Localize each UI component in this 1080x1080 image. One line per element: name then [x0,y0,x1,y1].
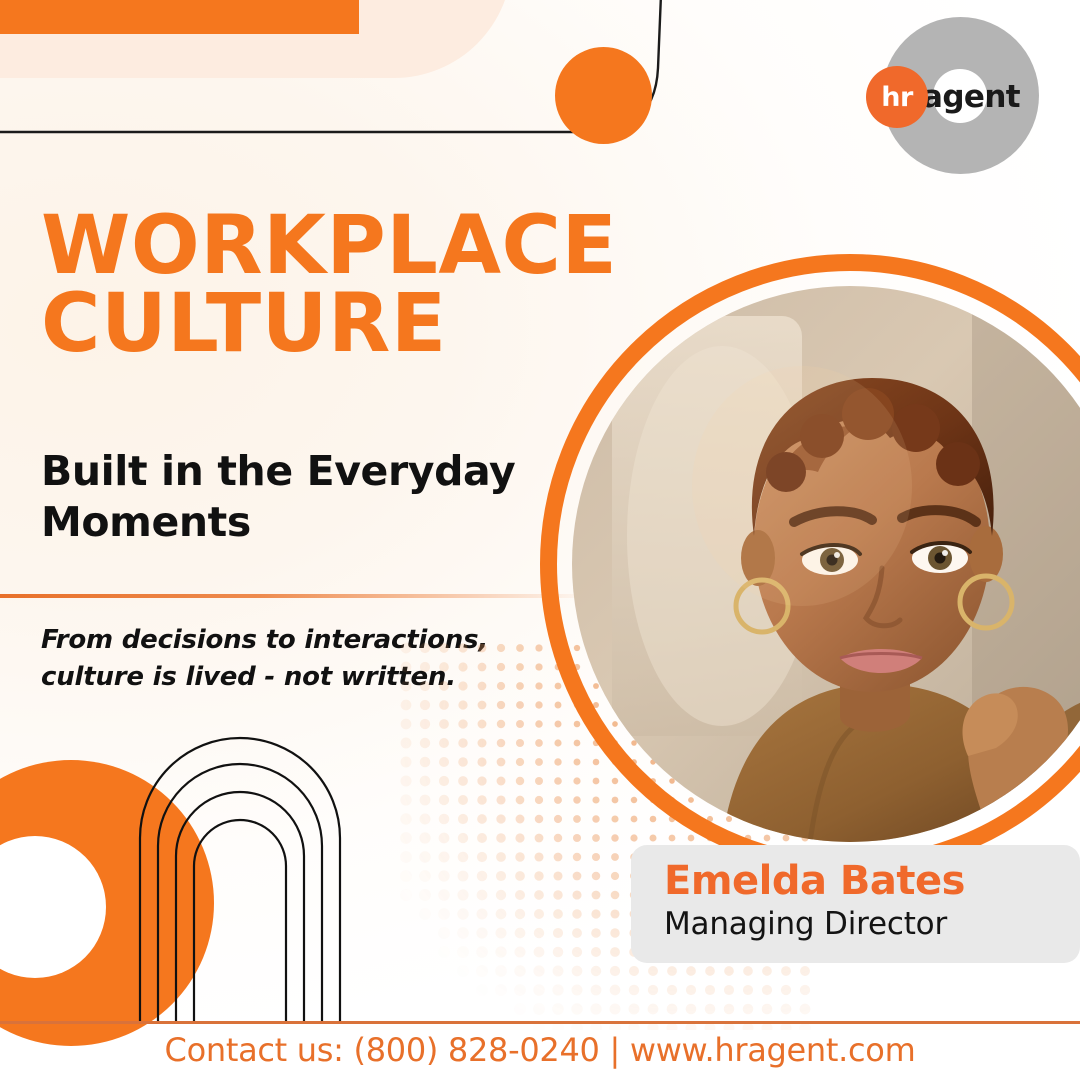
portrait-photo [572,286,1080,842]
orange-bar-shape [0,0,359,34]
poster-canvas: agent hr WORKPLACE CULTURE Built in the … [0,0,1080,1080]
footer-contact: Contact us: (800) 828-0240 | www.hragent… [0,1031,1080,1069]
logo-hr-badge: hr [866,66,928,128]
gradient-divider [0,594,620,598]
speaker-name: Emelda Bates [664,859,1080,903]
logo-hr-text: hr [881,84,913,111]
concentric-arches-icon [130,710,370,1022]
headline-block: WORKPLACE CULTURE [41,208,641,364]
footer-divider [0,1021,1080,1024]
headline-line-1: WORKPLACE [41,208,641,286]
logo-agent-text: agent [922,67,1020,127]
headline-line-2: CULTURE [41,286,641,364]
subheadline: Built in the Everyday Moments [41,446,561,548]
speaker-name-card: Emelda Bates Managing Director [631,845,1080,963]
brand-logo[interactable]: agent hr [880,17,1040,175]
orange-circle-decoration [555,47,652,144]
speaker-title: Managing Director [664,907,1080,941]
